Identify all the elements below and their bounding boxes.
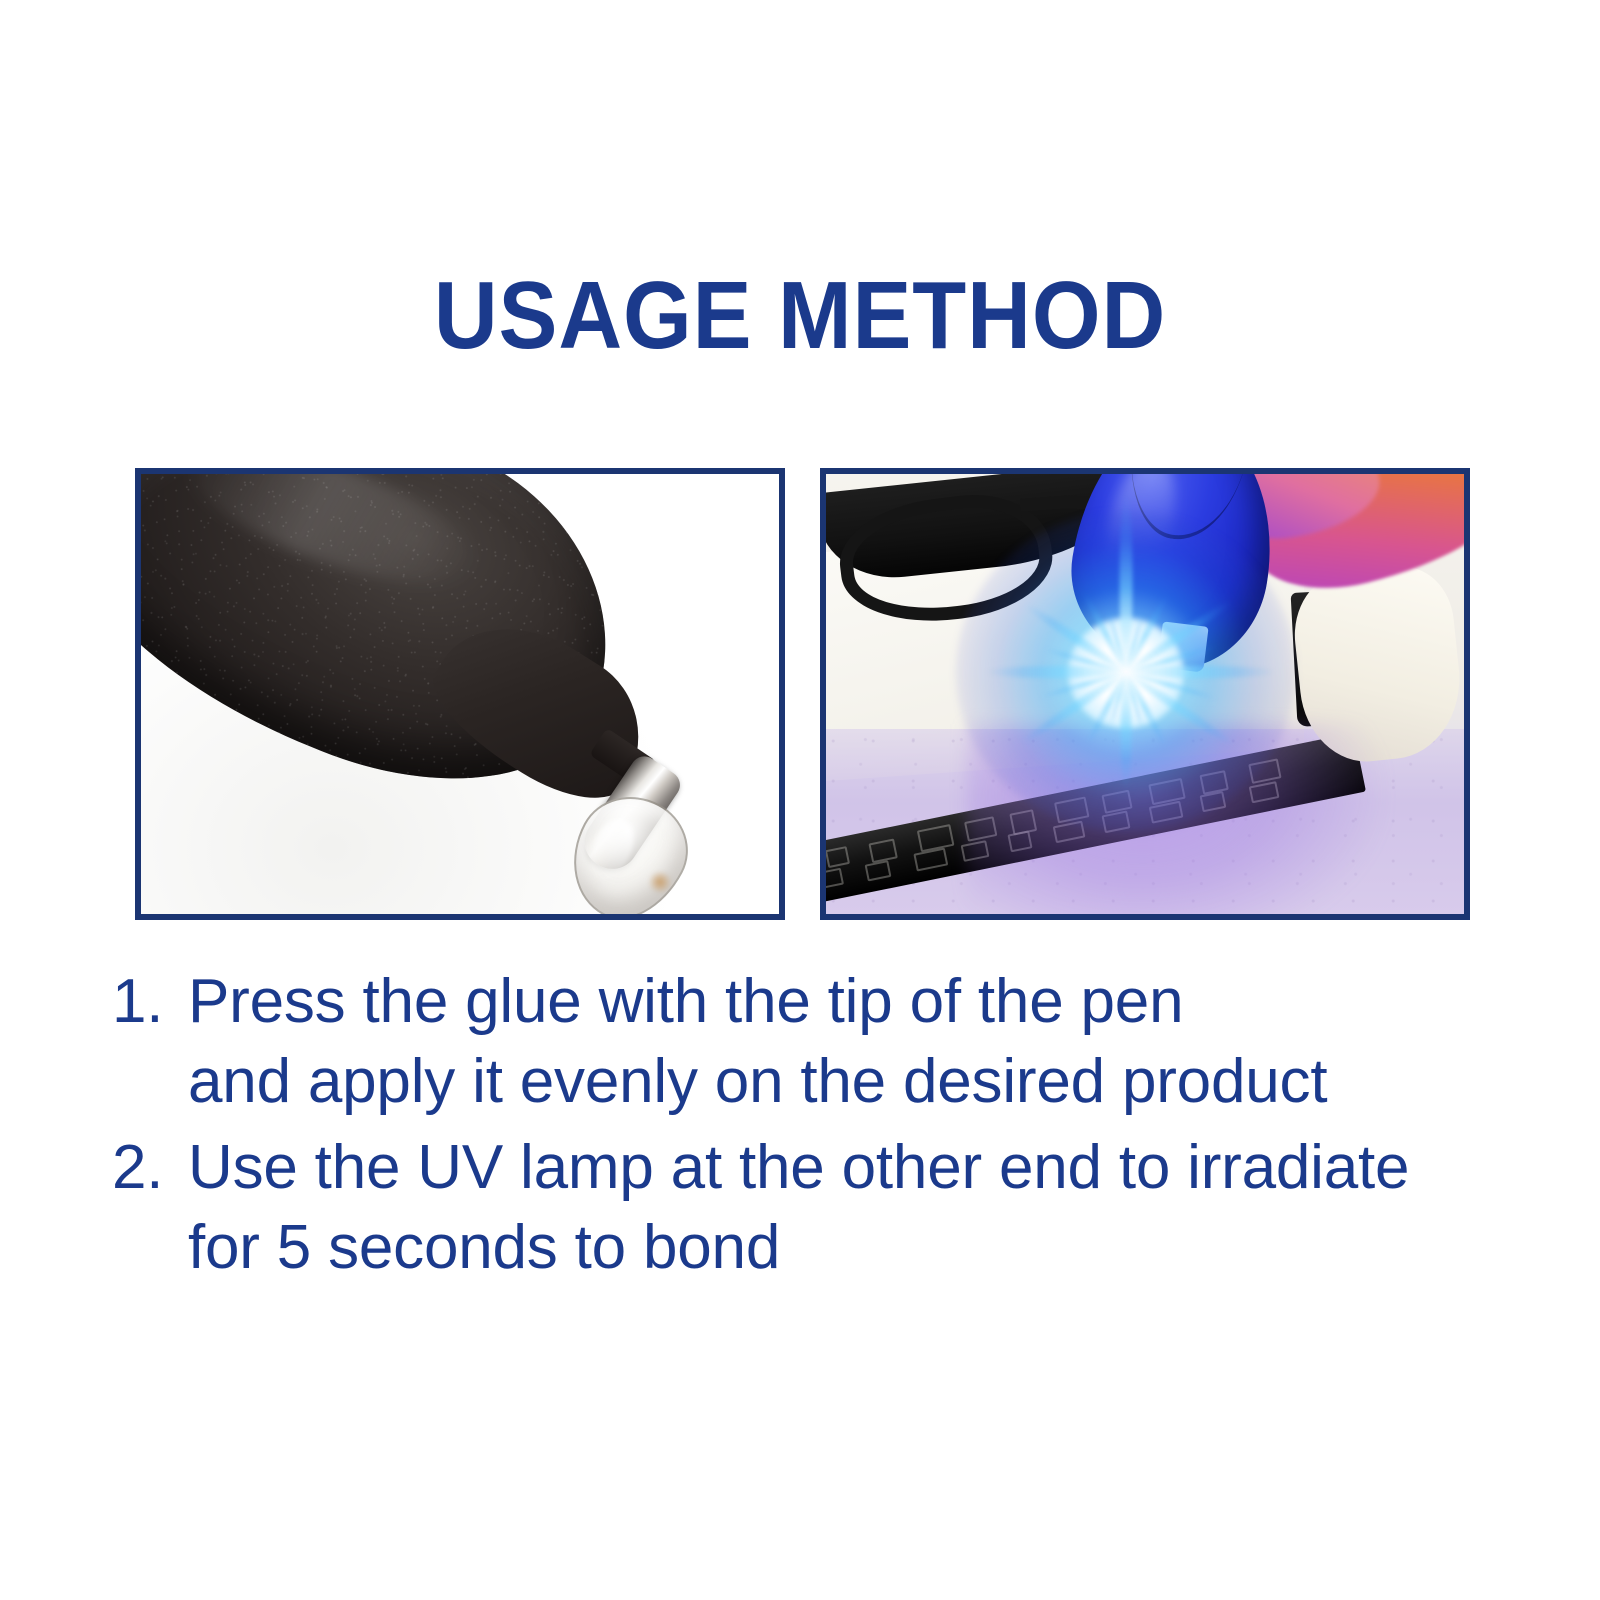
glue-pen-tip-photo-canvas: [141, 474, 779, 914]
step-text: Use the UV lamp at the other end to irra…: [188, 1128, 1532, 1288]
temple-pattern-square: [826, 868, 844, 889]
instruction-step: 1.Press the glue with the tip of the pen…: [112, 962, 1532, 1122]
photo-row: [0, 0, 1600, 1600]
step-text-line: Use the UV lamp at the other end to irra…: [188, 1128, 1532, 1208]
instruction-list: 1.Press the glue with the tip of the pen…: [112, 962, 1532, 1294]
temple-pattern-square: [868, 838, 897, 863]
uv-lamp-curing-photo: [820, 468, 1470, 920]
temple-pattern-square: [826, 846, 850, 868]
step-text: Press the glue with the tip of the penan…: [188, 962, 1532, 1122]
step-text-line: and apply it evenly on the desired produ…: [188, 1042, 1532, 1122]
temple-pattern-square: [917, 824, 955, 852]
usage-method-infographic: USAGE METHOD: [0, 0, 1600, 1600]
step-text-line: for 5 seconds to bond: [188, 1208, 1532, 1288]
step-text-line: Press the glue with the tip of the pen: [188, 962, 1532, 1042]
step-number: 1.: [112, 962, 188, 1042]
glue-droplet-amber-tint: [647, 872, 673, 892]
glue-pen-tip-photo: [135, 468, 785, 920]
step-number: 2.: [112, 1128, 188, 1208]
temple-pattern-square: [865, 860, 892, 881]
instruction-step: 2.Use the UV lamp at the other end to ir…: [112, 1128, 1532, 1288]
uv-lamp-curing-photo-canvas: [826, 474, 1464, 914]
temple-pattern-square: [913, 848, 948, 872]
